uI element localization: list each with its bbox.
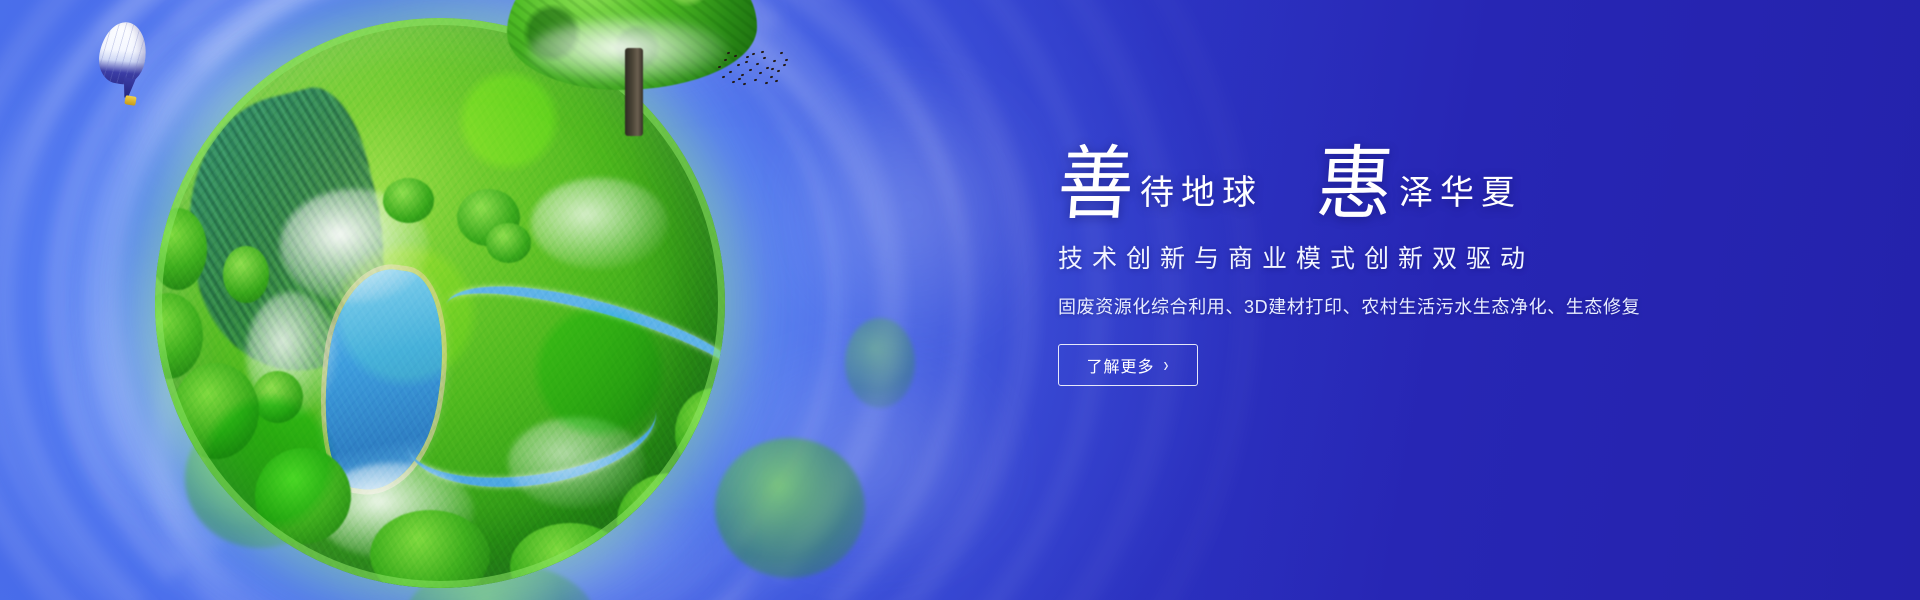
rim-foliage — [845, 318, 915, 408]
headline-phrase-2: 惠 泽华夏 — [1317, 151, 1522, 216]
subtitle: 技术创新与商业模式创新双驱动 — [1058, 244, 1698, 274]
page-title: 善 待地球 惠 泽华夏 — [1058, 140, 1698, 216]
bird — [718, 66, 721, 69]
bird — [761, 51, 764, 54]
bird — [749, 69, 752, 72]
rim-tree — [155, 208, 207, 290]
bird — [727, 52, 730, 55]
bird — [729, 71, 732, 74]
bird — [780, 52, 783, 55]
rim-tree — [370, 510, 490, 588]
hero-content: 善 待地球 惠 泽华夏 技术创新与商业模式创新双驱动 固废资源化综合利用、3D建… — [1058, 140, 1698, 386]
balloon-basket — [124, 95, 136, 106]
bird — [745, 61, 748, 64]
shrub-cluster — [457, 189, 520, 246]
headline-small-text-2: 泽华夏 — [1399, 177, 1522, 216]
bird — [746, 56, 749, 59]
bird — [722, 76, 725, 79]
bird — [741, 74, 744, 77]
bird — [756, 63, 759, 66]
bird — [732, 81, 735, 84]
tree-trunk — [625, 48, 643, 136]
headline-phrase-1: 善 待地球 — [1058, 151, 1263, 216]
lake-icon — [311, 262, 455, 498]
rim-foliage — [715, 438, 865, 578]
surface-cloud — [280, 189, 428, 303]
surface-cloud — [246, 292, 337, 417]
bird — [754, 79, 757, 82]
shrub-cluster — [383, 178, 434, 224]
headline-big-char-1: 善 — [1056, 149, 1137, 218]
bird — [773, 60, 776, 63]
rim-tree — [155, 293, 203, 379]
rim-tree — [173, 363, 259, 459]
bird — [759, 72, 762, 75]
surface-cloud — [315, 463, 475, 560]
chevron-right-icon: › — [1164, 355, 1170, 375]
shrub-cluster — [223, 246, 269, 303]
mountain-ridge — [159, 78, 413, 390]
bird — [738, 78, 741, 81]
learn-more-label: 了解更多 — [1086, 353, 1154, 377]
bird — [770, 76, 773, 79]
shrub-cluster — [486, 223, 532, 263]
river-icon — [434, 261, 725, 437]
surface-cloud — [508, 417, 645, 508]
cloud-smear — [760, 60, 1060, 360]
headline-big-char-2: 惠 — [1315, 149, 1396, 218]
rim-tree — [617, 473, 725, 569]
surface-cloud — [531, 178, 668, 269]
shrub-cluster — [252, 371, 303, 422]
bird — [752, 53, 755, 56]
hot-air-balloon-icon — [100, 22, 146, 118]
headline-small-text-1: 待地球 — [1140, 177, 1263, 216]
bird — [743, 83, 746, 86]
rim-tree — [675, 388, 725, 478]
rim-tree — [255, 448, 351, 544]
learn-more-button[interactable]: 了解更多 › — [1058, 344, 1198, 386]
balloon-envelope — [95, 18, 151, 87]
hero-banner: 善 待地球 惠 泽华夏 技术创新与商业模式创新双驱动 固废资源化综合利用、3D建… — [0, 0, 1920, 600]
bird — [775, 80, 778, 83]
bird — [765, 82, 768, 85]
globe-illustration — [155, 18, 725, 588]
bird — [771, 68, 774, 71]
river-icon — [399, 354, 663, 502]
bird — [737, 64, 740, 67]
rim-tree — [510, 523, 630, 588]
bird — [724, 59, 727, 62]
description-text: 固废资源化综合利用、3D建材打印、农村生活污水生态净化、生态修复 — [1058, 296, 1698, 319]
bird — [766, 67, 769, 70]
bird — [783, 64, 786, 67]
bird — [734, 55, 737, 58]
bird-flock-icon — [716, 50, 786, 90]
bird — [777, 70, 780, 73]
bird — [763, 57, 766, 60]
